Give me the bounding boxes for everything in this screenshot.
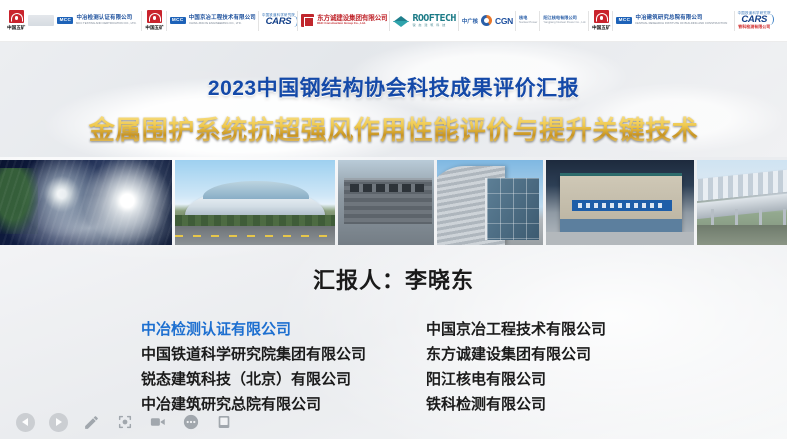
presenter-view-button[interactable]	[214, 413, 233, 432]
mcc-badge-icon: MCC	[616, 17, 632, 24]
logo-wordmark: CGN	[495, 16, 513, 26]
photo-strip	[0, 160, 787, 245]
logo-name-en: MCC TESTING AND CERTIFICATION CO., LTD.	[76, 22, 136, 25]
logo-rooftech: ROOFTECH 锐 态 建 筑 科 技	[390, 4, 458, 38]
organization-name-right: 东方诚建设集团有限公司	[426, 343, 656, 364]
logo-china-jingye: MCC 中国京冶工程技术有限公司 CHINA JINGYE ENGINEERIN…	[167, 4, 259, 38]
industrial-building-photo	[338, 160, 434, 245]
dots-circle-icon	[182, 413, 200, 431]
logo-caption: 中国五矿	[7, 25, 25, 31]
dhc-square-icon	[301, 14, 314, 27]
sponsor-logo-bar: 中国五矿 MCC 中冶检测认证有限公司 MCC TESTING AND CERT…	[0, 0, 787, 42]
video-camera-icon	[149, 413, 167, 431]
logo-minmetals-mcc-testing: 中国五矿 MCC 中冶检测认证有限公司 MCC TESTING AND CERT…	[4, 4, 142, 38]
slide-title-sub: 金属围护系统抗超强风作用性能评价与提升关键技术	[0, 110, 787, 147]
stadium-roof-photo	[175, 160, 335, 245]
minmetals-shield-icon: 中国五矿	[7, 10, 25, 32]
previous-slide-button[interactable]	[16, 413, 35, 432]
cars-swoosh-icon: 中国铁道科学研究院 CARS	[262, 14, 295, 27]
logo-name-en: DHC Construction Group Co., Ltd.	[317, 22, 387, 25]
presentation-toolbar	[0, 405, 787, 439]
organization-name-left: 锐态建筑科技（北京）有限公司	[131, 368, 426, 389]
logo-caption: 中国五矿	[592, 25, 610, 31]
logo-name-cn: 中广核	[462, 17, 478, 25]
logo-wordmark: CARS	[266, 17, 292, 27]
logo-yangjiang-nuclear: 阳江核电有限公司 Yangjiang Nuclear Power Co., Lt…	[540, 4, 589, 38]
slide-title-main: 2023中国钢结构协会科技成果评价汇报	[0, 72, 787, 102]
mcc-badge-icon: MCC	[57, 17, 73, 24]
logo-caption: 中国五矿	[145, 25, 163, 31]
menu-button[interactable]	[181, 413, 200, 432]
organization-name-left: 中冶检测认证有限公司	[131, 318, 426, 339]
logo-cgn: 中广核 CGN	[459, 4, 516, 38]
cars-swoosh-icon: 中国铁道科学研究院 CARS 铁科检测有限公司	[738, 12, 771, 30]
logo-cars-railway: 中国铁道科学研究院 CARS	[259, 4, 298, 38]
presentation-slide: 中国五矿 MCC 中冶检测认证有限公司 MCC TESTING AND CERT…	[0, 0, 787, 439]
logo-name-cn-sub: 铁科检测有限公司	[738, 25, 770, 29]
next-slide-button[interactable]	[49, 413, 68, 432]
chevron-left-icon	[16, 413, 35, 432]
logo-name-en: Nuclear Power	[519, 21, 537, 24]
logo-wordmark: CARS	[741, 15, 767, 25]
minmetals-shield-icon: 中国五矿	[592, 10, 610, 32]
record-video-button[interactable]	[148, 413, 167, 432]
logo-cribc: MCC 中冶建筑研究总院有限公司 CENTRAL RESEARCH INSTIT…	[613, 4, 734, 38]
typhoon-satellite-photo	[0, 160, 172, 245]
logo-name-en: CENTRAL RESEARCH INSTITUTE OF BUILDING A…	[635, 22, 727, 25]
organization-row: 锐态建筑科技（北京）有限公司 阳江核电有限公司	[0, 368, 787, 389]
warehouse-banner-photo	[546, 160, 694, 245]
logo-name-en: CHINA JINGYE ENGINEERING CO., LTD.	[189, 22, 253, 25]
target-icon	[117, 414, 133, 430]
minmetals-shield-icon: 中国五矿	[145, 10, 163, 32]
organization-row: 中冶检测认证有限公司 中国京冶工程技术有限公司	[0, 318, 787, 339]
laser-pointer-button[interactable]	[115, 413, 134, 432]
logo-nuclear-power: 核电 Nuclear Power	[516, 4, 540, 38]
organization-name-right: 阳江核电有限公司	[426, 368, 656, 389]
logo-minmetals-mark-2: 中国五矿	[142, 4, 166, 38]
organization-row: 中国铁道科学研究院集团有限公司 东方诚建设集团有限公司	[0, 343, 787, 364]
logo-dhc-construction: 东方诚建设集团有限公司 DHC Construction Group Co., …	[298, 4, 390, 38]
chevron-right-icon	[49, 413, 68, 432]
pencil-icon	[83, 414, 100, 431]
organization-name-left: 中国铁道科学研究院集团有限公司	[131, 343, 426, 364]
pen-annotate-button[interactable]	[82, 413, 101, 432]
rooftech-diamond-icon	[393, 14, 409, 28]
organization-name-right: 中国京冶工程技术有限公司	[426, 318, 656, 339]
airport-terminal-photo	[697, 160, 787, 245]
mcc-badge-icon: MCC	[170, 17, 186, 24]
cgn-ring-icon	[481, 15, 492, 26]
logo-minmetals-mark-3: 中国五矿	[589, 4, 613, 38]
curved-metal-facade-photo	[437, 160, 543, 245]
logo-name-en: Yangjiang Nuclear Power Co., Ltd.	[543, 21, 586, 24]
logo-watermark	[28, 15, 54, 26]
screen-icon	[216, 414, 232, 430]
logo-tieke-testing: 中国铁道科学研究院 CARS 铁科检测有限公司	[735, 4, 774, 38]
organization-list: 中冶检测认证有限公司 中国京冶工程技术有限公司 中国铁道科学研究院集团有限公司 …	[0, 318, 787, 414]
presenter-line: 汇报人：李晓东	[0, 263, 787, 295]
logo-name-cn: 锐 态 建 筑 科 技	[412, 24, 455, 27]
